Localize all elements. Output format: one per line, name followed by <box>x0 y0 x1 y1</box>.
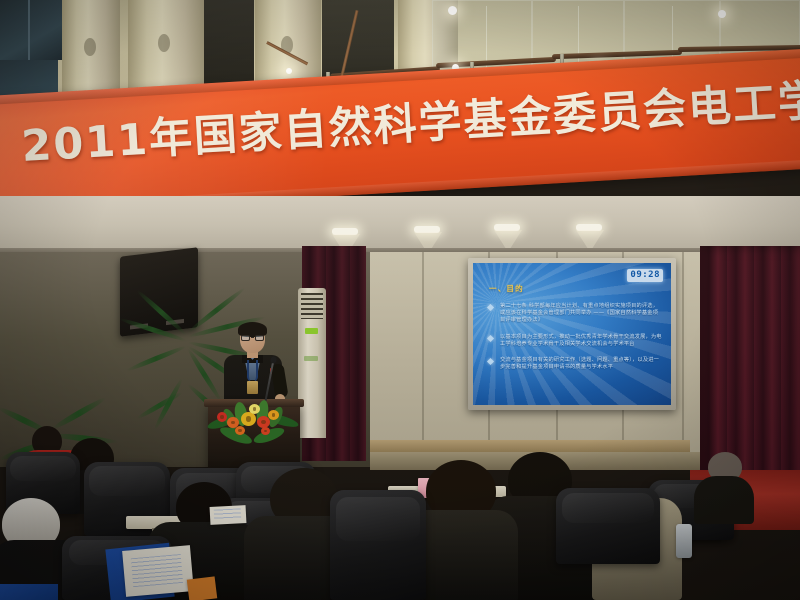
hall-ceiling <box>0 196 800 254</box>
slide-bullet-text: 以基本项目为主要形式，推动一批优秀青年学术骨干交流发展，为电工学科培养专业学术骨… <box>500 334 663 348</box>
attendee-back-right <box>694 452 754 512</box>
slide-bullet-text: 交流与基金项目有关的研究工作（选题、问题、重点等），以及进一步完善和提升基金项目… <box>500 357 663 371</box>
flower-orange-2 <box>235 426 245 435</box>
slide-bullet: 以基本项目为主要形式，推动一批优秀青年学术骨干交流发展，为电工学科培养专业学术骨… <box>487 334 663 348</box>
upper-window <box>0 0 70 60</box>
blue-folder-2 <box>0 584 58 600</box>
slide-bullet-text: 第二十七条 科学部每年应当计划、有重点地组织实施项目的评选，或应该在科学基金会管… <box>500 303 663 325</box>
flower-yellow <box>241 412 256 426</box>
chair-front-center <box>330 490 426 600</box>
slide-title: 一、目的 <box>489 283 524 294</box>
flower-red-3 <box>261 427 270 435</box>
atrium-light-1 <box>448 6 457 15</box>
atrium-light-4 <box>286 68 292 74</box>
projection-screen: 09:28 一、目的 第二十七条 科学部每年应当计划、有重点地组织实施项目的评选… <box>468 258 676 410</box>
slide-bullet-list: 第二十七条 科学部每年应当计划、有重点地组织实施项目的评选，或应该在科学基金会管… <box>487 303 663 380</box>
atrium-light-2 <box>718 10 726 18</box>
flower-yellow-2 <box>268 410 279 420</box>
presenter-badge <box>247 381 258 394</box>
slide-bullet: 第二十七条 科学部每年应当计划、有重点地组织实施项目的评选，或应该在科学基金会管… <box>487 303 663 325</box>
orange-paper <box>187 576 217 600</box>
water-bottle <box>676 524 692 558</box>
flower-red-2 <box>217 412 227 422</box>
slide-content: 09:28 一、目的 第二十七条 科学部每年应当计划、有重点地组织实施项目的评选… <box>473 263 671 405</box>
glasses-icon <box>241 335 264 341</box>
slide-bullet: 交流与基金项目有关的研究工作（选题、问题、重点等），以及进一步完善和提升基金项目… <box>487 357 663 371</box>
slide-clock-time: 09:28 <box>630 271 660 280</box>
flower-cream <box>249 404 260 414</box>
conference-hall-photo: 2011年国家自然科学基金委员会电工学科“高电压 <box>0 0 800 600</box>
ac-display <box>305 328 318 334</box>
slide-clock: 09:28 <box>627 269 663 282</box>
chair-right <box>556 488 660 564</box>
paper-on-desk <box>210 505 247 525</box>
presenter-lanyard <box>247 360 258 382</box>
flower-arrangement <box>205 396 303 444</box>
printed-document <box>122 545 194 597</box>
